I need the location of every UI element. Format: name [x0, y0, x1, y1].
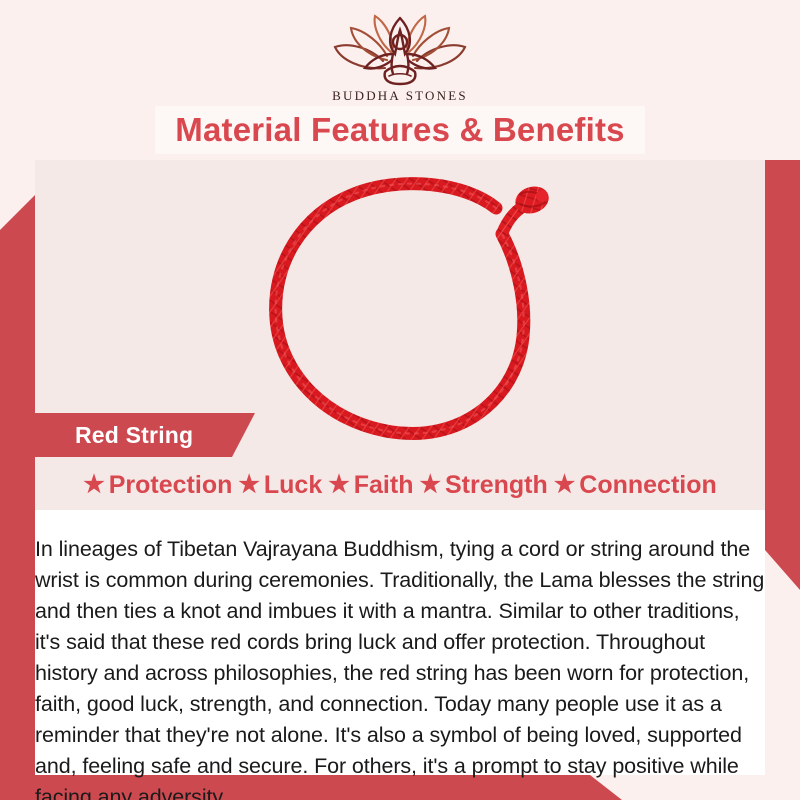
description-panel: In lineages of Tibetan Vajrayana Buddhis… [35, 510, 765, 775]
star-icon: ★ [83, 473, 105, 497]
benefit-label: Strength [445, 471, 548, 500]
page-title: Material Features & Benefits [175, 111, 624, 149]
benefit-label: Luck [264, 471, 322, 500]
star-icon: ★ [419, 473, 441, 497]
product-label: Red String [75, 422, 193, 449]
description-text: In lineages of Tibetan Vajrayana Buddhis… [35, 534, 765, 800]
brand-logo: BUDDHA STONES [0, 14, 800, 104]
benefit-label: Connection [579, 471, 717, 500]
material-features-poster: BUDDHA STONES Material Features & Benefi… [0, 0, 800, 800]
star-icon: ★ [238, 473, 260, 497]
benefit-label: Faith [354, 471, 414, 500]
benefit-item: ★ Luck [238, 471, 322, 500]
product-image-area [35, 160, 765, 510]
star-icon: ★ [328, 473, 350, 497]
left-red-strip [0, 195, 35, 780]
benefits-row: ★ Protection ★ Luck ★ Faith ★ Strength ★… [35, 464, 765, 506]
product-label-banner: Red String [35, 413, 255, 457]
benefit-item: ★ Connection [554, 471, 717, 500]
benefit-label: Protection [109, 471, 233, 500]
brand-name: BUDDHA STONES [0, 88, 800, 104]
benefit-item: ★ Strength [419, 471, 547, 500]
title-band: Material Features & Benefits [155, 106, 645, 154]
benefit-item: ★ Faith [328, 471, 413, 500]
red-string-bracelet-icon [250, 160, 580, 450]
star-icon: ★ [554, 473, 576, 497]
benefit-item: ★ Protection [83, 471, 232, 500]
lotus-meditation-icon [325, 14, 475, 86]
